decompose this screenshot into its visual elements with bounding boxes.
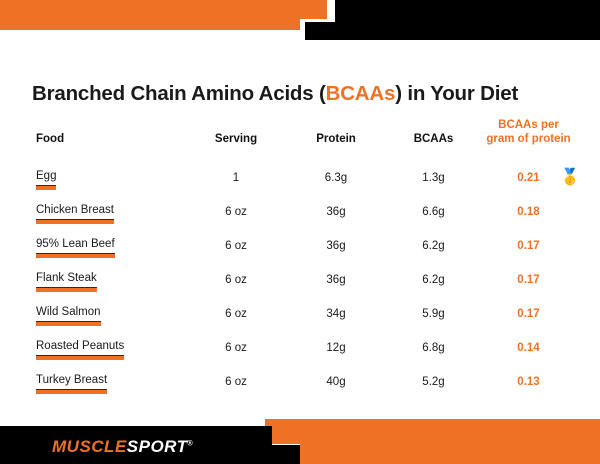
column-header-bcaas: BCAAs: [386, 118, 481, 161]
cell-ratio: 0.17: [481, 229, 576, 263]
table-row: Roasted Peanuts6 oz12g6.8g0.14: [36, 331, 576, 365]
table-body: Egg16.3g1.3g0.21🥇Chicken Breast6 oz36g6.…: [36, 161, 576, 399]
column-header-ratio-line2: gram of protein: [486, 133, 570, 145]
cell-food: Chicken Breast: [36, 195, 186, 229]
bcaa-food-table: Food Serving Protein BCAAs BCAAs per gra…: [36, 118, 576, 399]
page-title-part1: Branched Chain Amino Acids (: [32, 82, 326, 105]
logo-text-muscle: MUSCLE: [52, 437, 127, 456]
column-header-ratio: BCAAs per gram of protein: [481, 118, 576, 161]
cell-bcaas: 6.2g: [386, 229, 481, 263]
serving-value: 6 oz: [225, 308, 247, 320]
page-title-part2: ) in Your Diet: [395, 82, 518, 105]
column-header-food: Food: [36, 118, 186, 161]
cell-ratio: 0.18: [481, 195, 576, 229]
cell-ratio: 0.14: [481, 331, 576, 365]
table-row: Wild Salmon6 oz34g5.9g0.17: [36, 297, 576, 331]
food-name-label: Wild Salmon: [36, 306, 101, 322]
column-header-serving: Serving: [186, 118, 286, 161]
cell-protein: 36g: [286, 229, 386, 263]
ratio-value: 0.13: [517, 376, 539, 388]
serving-value: 6 oz: [225, 206, 247, 218]
bcaas-value: 6.2g: [422, 274, 444, 286]
ratio-value: 0.17: [517, 274, 539, 286]
table-row: Turkey Breast6 oz40g5.2g0.13: [36, 365, 576, 399]
cell-food: 95% Lean Beef: [36, 229, 186, 263]
musclesport-logo: MUSCLESPORT®: [52, 438, 193, 455]
cell-serving: 6 oz: [186, 195, 286, 229]
footer-banner: MUSCLESPORT®: [0, 419, 600, 464]
cell-ratio: 0.17: [481, 263, 576, 297]
serving-value: 6 oz: [225, 342, 247, 354]
table-row: 95% Lean Beef6 oz36g6.2g0.17: [36, 229, 576, 263]
protein-value: 12g: [326, 342, 345, 354]
table-row: Chicken Breast6 oz36g6.6g0.18: [36, 195, 576, 229]
food-name-label: Turkey Breast: [36, 374, 107, 390]
protein-value: 36g: [326, 206, 345, 218]
cell-food: Flank Steak: [36, 263, 186, 297]
logo-trademark-icon: ®: [188, 440, 194, 447]
serving-value: 6 oz: [225, 240, 247, 252]
table-row: Flank Steak6 oz36g6.2g0.17: [36, 263, 576, 297]
cell-food: Wild Salmon: [36, 297, 186, 331]
bcaas-value: 1.3g: [422, 172, 444, 184]
serving-value: 1: [233, 172, 239, 184]
ratio-value: 0.18: [517, 206, 539, 218]
serving-value: 6 oz: [225, 274, 247, 286]
cell-food: Turkey Breast: [36, 365, 186, 399]
table-header: Food Serving Protein BCAAs BCAAs per gra…: [36, 118, 576, 161]
logo-text-sport: SPORT: [127, 437, 188, 456]
header-banner: [0, 0, 600, 40]
table-row: Egg16.3g1.3g0.21🥇: [36, 161, 576, 195]
food-name-label: Flank Steak: [36, 272, 97, 288]
cell-bcaas: 6.8g: [386, 331, 481, 365]
cell-protein: 36g: [286, 195, 386, 229]
cell-protein: 36g: [286, 263, 386, 297]
cell-bcaas: 6.2g: [386, 263, 481, 297]
cell-ratio: 0.21🥇: [481, 161, 576, 195]
cell-bcaas: 5.2g: [386, 365, 481, 399]
cell-serving: 1: [186, 161, 286, 195]
food-name-label: Chicken Breast: [36, 204, 114, 220]
cell-serving: 6 oz: [186, 365, 286, 399]
cell-serving: 6 oz: [186, 229, 286, 263]
ratio-value: 0.21: [517, 172, 539, 184]
bcaas-value: 6.2g: [422, 240, 444, 252]
bcaas-value: 5.9g: [422, 308, 444, 320]
protein-value: 36g: [326, 274, 345, 286]
cell-ratio: 0.13: [481, 365, 576, 399]
food-name-label: Egg: [36, 170, 56, 186]
column-header-protein: Protein: [286, 118, 386, 161]
page-title: Branched Chain Amino Acids (BCAAs) in Yo…: [32, 82, 577, 106]
cell-ratio: 0.17: [481, 297, 576, 331]
cell-protein: 6.3g: [286, 161, 386, 195]
bcaas-value: 6.6g: [422, 206, 444, 218]
food-name-label: Roasted Peanuts: [36, 340, 124, 356]
cell-bcaas: 5.9g: [386, 297, 481, 331]
ratio-value: 0.14: [517, 342, 539, 354]
bcaas-value: 6.8g: [422, 342, 444, 354]
page-title-highlight: BCAAs: [326, 82, 396, 105]
header-orange-block: [0, 0, 300, 30]
table-header-row: Food Serving Protein BCAAs BCAAs per gra…: [36, 118, 576, 161]
ratio-value: 0.17: [517, 240, 539, 252]
cell-serving: 6 oz: [186, 331, 286, 365]
header-black-step-block: [305, 22, 335, 40]
protein-value: 6.3g: [325, 172, 347, 184]
cell-food: Roasted Peanuts: [36, 331, 186, 365]
cell-food: Egg: [36, 161, 186, 195]
cell-protein: 34g: [286, 297, 386, 331]
header-orange-step-block: [300, 0, 327, 19]
bcaas-value: 5.2g: [422, 376, 444, 388]
protein-value: 34g: [326, 308, 345, 320]
footer-orange-block: [300, 419, 600, 464]
cell-serving: 6 oz: [186, 297, 286, 331]
header-black-block: [335, 0, 600, 40]
cell-serving: 6 oz: [186, 263, 286, 297]
cell-bcaas: 6.6g: [386, 195, 481, 229]
ratio-value: 0.17: [517, 308, 539, 320]
column-header-ratio-line1: BCAAs per: [498, 119, 559, 131]
protein-value: 36g: [326, 240, 345, 252]
serving-value: 6 oz: [225, 376, 247, 388]
cell-protein: 40g: [286, 365, 386, 399]
food-name-label: 95% Lean Beef: [36, 238, 115, 254]
footer-black-step-block: [272, 445, 300, 464]
cell-protein: 12g: [286, 331, 386, 365]
gold-medal-icon: 🥇: [560, 168, 580, 188]
protein-value: 40g: [326, 376, 345, 388]
cell-bcaas: 1.3g: [386, 161, 481, 195]
